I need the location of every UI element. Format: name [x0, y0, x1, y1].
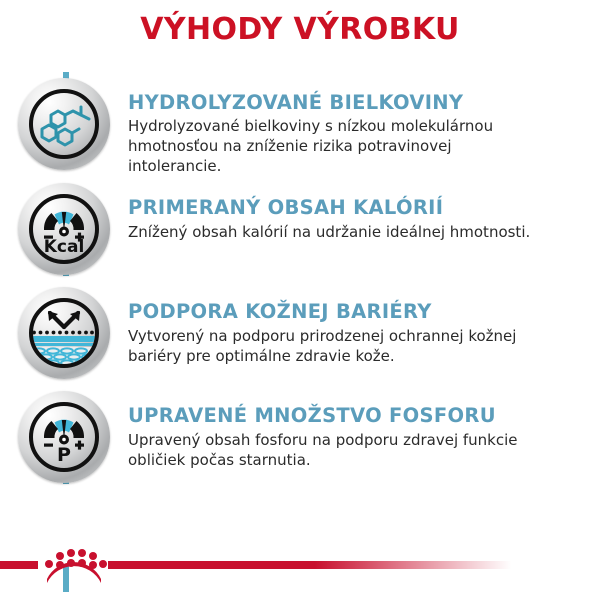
benefit-item-phosphorus: P UPRAVENÉ MNOŽSTVO FOSFORU Upravený obs…	[0, 385, 600, 489]
gauge-label: Kcal	[44, 237, 85, 257]
benefit-body: Hydrolyzované bielkoviny s nízkou moleku…	[128, 117, 548, 177]
text-column: PODPORA KOŽNEJ BARIÉRY Vytvorený na podp…	[128, 281, 600, 366]
benefit-body: Upravený obsah fosforu na podporu zdrave…	[128, 431, 548, 471]
text-column: UPRAVENÉ MNOŽSTVO FOSFORU Upravený obsah…	[128, 385, 600, 470]
phosphorus-gauge-icon: P	[18, 391, 110, 483]
icon-column: P	[0, 385, 128, 483]
kcal-gauge-icon: Kcal	[18, 183, 110, 275]
text-column: PRIMERANÝ OBSAH KALÓRIÍ Znížený obsah ka…	[128, 177, 600, 242]
royal-canin-crown-logo	[40, 548, 108, 584]
benefit-body: Vytvorený na podporu prirodzenej ochrann…	[128, 327, 548, 367]
benefit-heading: PODPORA KOŽNEJ BARIÉRY	[128, 301, 582, 323]
brand-rule-right	[108, 561, 600, 569]
molecule-icon	[18, 78, 110, 170]
benefit-item-hydrolyzed-protein: HYDROLYZOVANÉ BIELKOVINY Hydrolyzované b…	[0, 72, 600, 177]
benefit-heading: UPRAVENÉ MNOŽSTVO FOSFORU	[128, 405, 582, 427]
icon-column	[0, 281, 128, 379]
gauge-label: P	[57, 444, 71, 466]
page-title: VÝHODY VÝROBKU	[0, 12, 600, 47]
benefit-item-calorie-content: Kcal PRIMERANÝ OBSAH KALÓRIÍ Znížený obs…	[0, 177, 600, 281]
text-column: HYDROLYZOVANÉ BIELKOVINY Hydrolyzované b…	[128, 72, 600, 177]
benefits-list: HYDROLYZOVANÉ BIELKOVINY Hydrolyzované b…	[0, 72, 600, 489]
footer	[0, 548, 600, 600]
benefit-heading: PRIMERANÝ OBSAH KALÓRIÍ	[128, 197, 582, 219]
skin-barrier-icon	[18, 287, 110, 379]
benefit-heading: HYDROLYZOVANÉ BIELKOVINY	[128, 92, 582, 114]
benefit-item-skin-barrier: PODPORA KOŽNEJ BARIÉRY Vytvorený na podp…	[0, 281, 600, 385]
benefit-body: Znížený obsah kalórií na udržanie ideáln…	[128, 223, 548, 243]
icon-column: Kcal	[0, 177, 128, 275]
brand-rule-left	[0, 561, 38, 569]
icon-column	[0, 72, 128, 170]
